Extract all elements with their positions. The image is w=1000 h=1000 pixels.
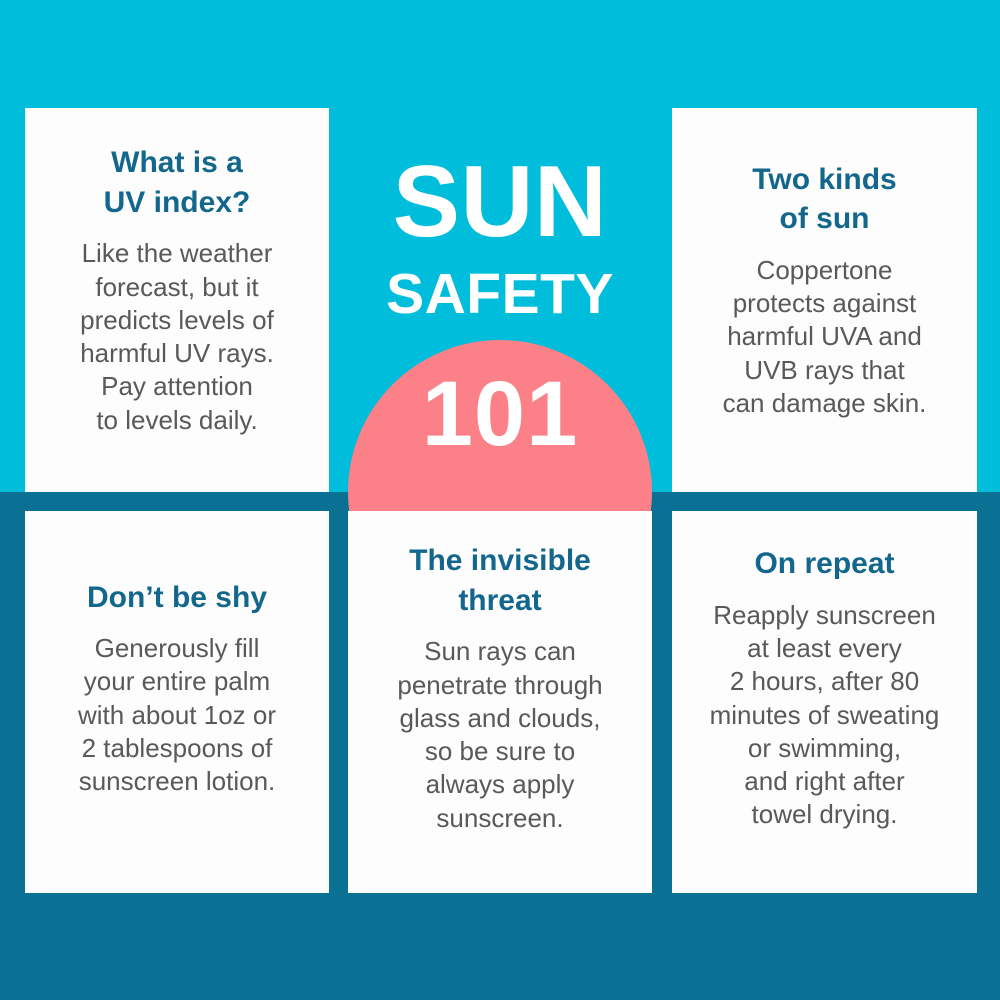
card-title: Two kinds of sun (686, 160, 963, 239)
card-body: Sun rays can penetrate through glass and… (362, 635, 638, 835)
card-title: On repeat (686, 544, 963, 584)
card-on-repeat: On repeat Reapply sunscreen at least eve… (672, 511, 977, 893)
card-body: Like the weather forecast, but it predic… (39, 237, 315, 437)
card-title: Don’t be shy (39, 578, 315, 618)
hero-title-sun: SUN (330, 152, 670, 253)
hero-title-safety: SAFETY (330, 266, 670, 323)
hero-title-block: SUN SAFETY 101 (330, 0, 670, 492)
card-dont-be-shy: Don’t be shy Generously fill your entire… (25, 511, 329, 893)
card-body: Coppertone protects against harmful UVA … (686, 254, 963, 420)
card-what-is-a-uv-index: What is a UV index? Like the weather for… (25, 108, 329, 492)
card-title: The invisible threat (362, 541, 638, 620)
card-title: What is a UV index? (39, 143, 315, 222)
hero-badge-101: 101 (330, 368, 670, 460)
card-body: Generously fill your entire palm with ab… (39, 632, 315, 798)
card-two-kinds-of-sun: Two kinds of sun Coppertone protects aga… (672, 108, 977, 492)
card-the-invisible-threat: The invisible threat Sun rays can penetr… (348, 511, 652, 893)
sun-safety-infographic: SUN SAFETY 101 What is a UV index? Like … (0, 0, 1000, 1000)
card-body: Reapply sunscreen at least every 2 hours… (686, 599, 963, 832)
